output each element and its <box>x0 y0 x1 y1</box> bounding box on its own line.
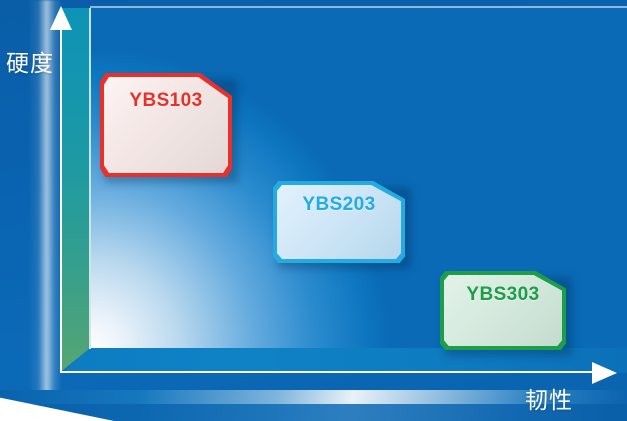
diagram-canvas: 硬度 韧性 YBS103 YBS203 YBS303 <box>0 0 627 421</box>
arrow-right-icon <box>592 362 617 384</box>
x-axis-label: 韧性 <box>525 381 573 415</box>
side-wall-panel <box>62 8 91 371</box>
y-axis-label: 硬度 <box>6 44 54 78</box>
item-card-ybs103[interactable]: YBS103 <box>100 73 232 177</box>
item-card-ybs303[interactable]: YBS303 <box>440 271 566 350</box>
item-card-label: YBS103 <box>129 90 202 112</box>
item-card-label: YBS303 <box>466 284 539 306</box>
item-card-ybs203[interactable]: YBS203 <box>273 181 405 263</box>
back-wall-top-edge <box>90 6 627 8</box>
item-card-label: YBS203 <box>302 194 375 216</box>
arrow-up-icon <box>50 6 72 30</box>
x-axis-line <box>60 371 595 373</box>
y-axis-line <box>60 26 62 372</box>
wall-seam-line <box>89 8 91 349</box>
